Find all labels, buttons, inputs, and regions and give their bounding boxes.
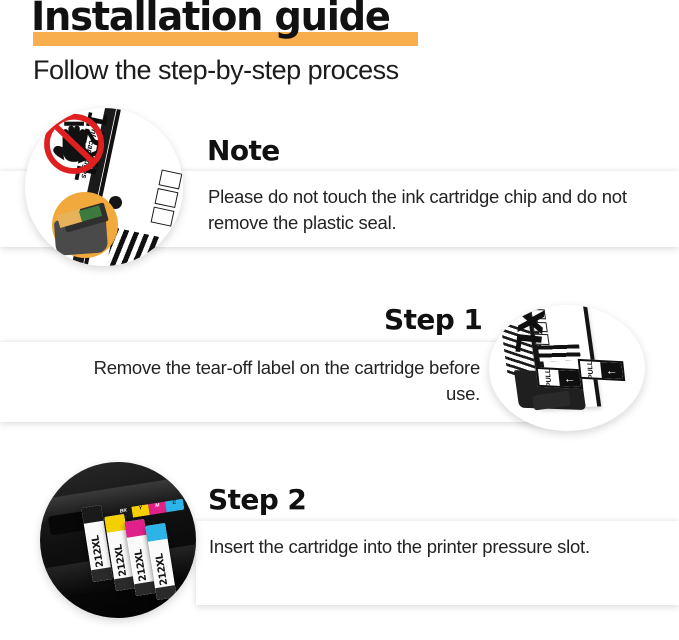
pull-tab-1: PULL ← (536, 367, 583, 390)
cartridge-label-text: 212XL (114, 544, 130, 577)
step-2-image: BK Y M C 212XL 212XL (40, 462, 196, 618)
page-header: Installation guide Follow the step-by-st… (0, 0, 679, 100)
step-1-heading: Step 1 (384, 303, 482, 336)
note-heading: Note (207, 134, 280, 167)
pull-tab-1-label: PULL (545, 367, 554, 388)
cartridge-label-text: 212XL (154, 553, 170, 586)
installation-guide-page: Installation guide Follow the step-by-st… (0, 0, 679, 640)
step-1-body-text: Remove the tear-off label on the cartrid… (60, 355, 480, 407)
cartridge-label-text: 212XL (90, 535, 106, 568)
page-subtitle: Follow the step-by-step process (33, 55, 399, 86)
pull-tab-2-label: PULL (587, 360, 596, 381)
cartridge-label: XL (507, 306, 551, 354)
step-2-heading: Step 2 (208, 483, 306, 516)
pull-tab-1-arrow-icon: ← (559, 370, 581, 387)
pull-tab-2-arrow-icon: ← (601, 362, 623, 379)
pull-tab-2: PULL ← (578, 359, 625, 382)
note-body-text: Please do not touch the ink cartridge ch… (208, 184, 628, 236)
note-image: m ink cartridges 12XL (25, 108, 183, 266)
step-1-image: XL PULL ← PULL ← (489, 305, 645, 431)
no-touch-prohibition-icon (33, 111, 115, 193)
cartridge-label-text: 212XL (134, 549, 150, 582)
page-title: Installation guide (31, 0, 390, 40)
step-2-body-text: Insert the cartridge into the printer pr… (209, 534, 609, 560)
